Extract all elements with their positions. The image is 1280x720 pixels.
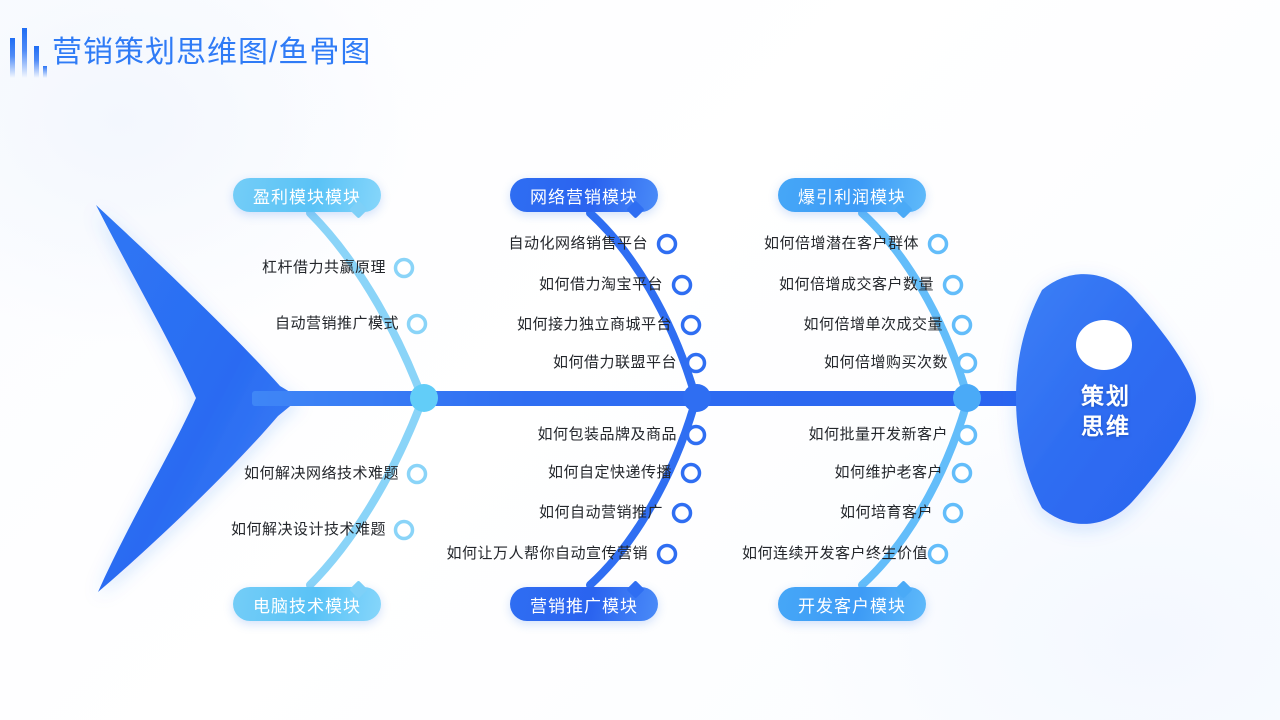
branch-label-text: 营销推广模块 [530,592,638,617]
branch-label-text: 网络营销模块 [530,183,638,208]
fish-spine [252,391,1042,406]
branch-item-profit-1: 自动营销推广模式 [180,314,399,334]
branch-label-profit[interactable]: 盈利模块模块 [233,178,381,212]
branch-item-develop-clients-2: 如何培育客户 [770,503,933,523]
spine-junction-left [410,384,438,412]
branch-item-profit-boost-3: 如何倍增购买次数 [750,353,948,373]
branch-label-profit-boost[interactable]: 爆引利润模块 [778,178,926,212]
branch-item-computer-tech-0: 如何解决网络技术难题 [180,464,399,484]
branch-item-profit-0: 杠杆借力共赢原理 [170,258,386,278]
branch-item-marketing-promo-1: 如何自定快递传播 [455,463,672,483]
branch-item-marketing-promo-2: 如何自动营销推广 [455,503,663,523]
fish-eye [1076,320,1132,370]
branch-item-profit-boost-0: 如何倍增潜在客户群体 [700,234,919,254]
branch-item-develop-clients-1: 如何维护老客户 [760,463,943,483]
branch-item-computer-tech-1: 如何解决设计技术难题 [170,520,386,540]
slide-canvas: 营销策划思维图/鱼骨图 [0,0,1280,720]
branch-item-develop-clients-0: 如何批量开发新客户 [730,425,948,445]
branch-item-develop-clients-3: 如何连续开发客户终生价值 [680,544,928,564]
fish-head-label-line2: 思维 [1052,412,1160,442]
branch-label-network-marketing[interactable]: 网络营销模块 [510,178,658,212]
branch-label-text: 爆引利润模块 [798,183,906,208]
branch-item-profit-boost-1: 如何倍增成交客户数量 [715,275,934,295]
branch-label-text: 开发客户模块 [798,592,906,617]
branch-item-marketing-promo-0: 如何包装品牌及商品 [470,425,677,445]
branch-label-marketing-promo[interactable]: 营销推广模块 [510,587,658,621]
branch-item-network-marketing-2: 如何接力独立商城平台 [455,315,672,335]
fish-head-label: 策划 思维 [1052,382,1160,442]
branch-item-profit-boost-2: 如何倍增单次成交量 [730,315,943,335]
branch-label-computer-tech[interactable]: 电脑技术模块 [233,587,381,621]
branch-item-network-marketing-1: 如何借力淘宝平台 [455,275,663,295]
fish-head-label-line1: 策划 [1052,382,1160,412]
branch-line-profit [310,213,426,392]
branch-label-text: 电脑技术模块 [253,592,361,617]
branch-item-network-marketing-0: 自动化网络销售平台 [440,234,648,254]
spine-junction-right [953,384,981,412]
branch-label-text: 盈利模块模块 [253,183,361,208]
spine-junction-middle [683,384,711,412]
branch-item-network-marketing-3: 如何借力联盟平台 [470,353,677,373]
branch-label-develop-clients[interactable]: 开发客户模块 [778,587,926,621]
branch-item-marketing-promo-3: 如何让万人帮你自动宣传营销 [400,544,648,564]
